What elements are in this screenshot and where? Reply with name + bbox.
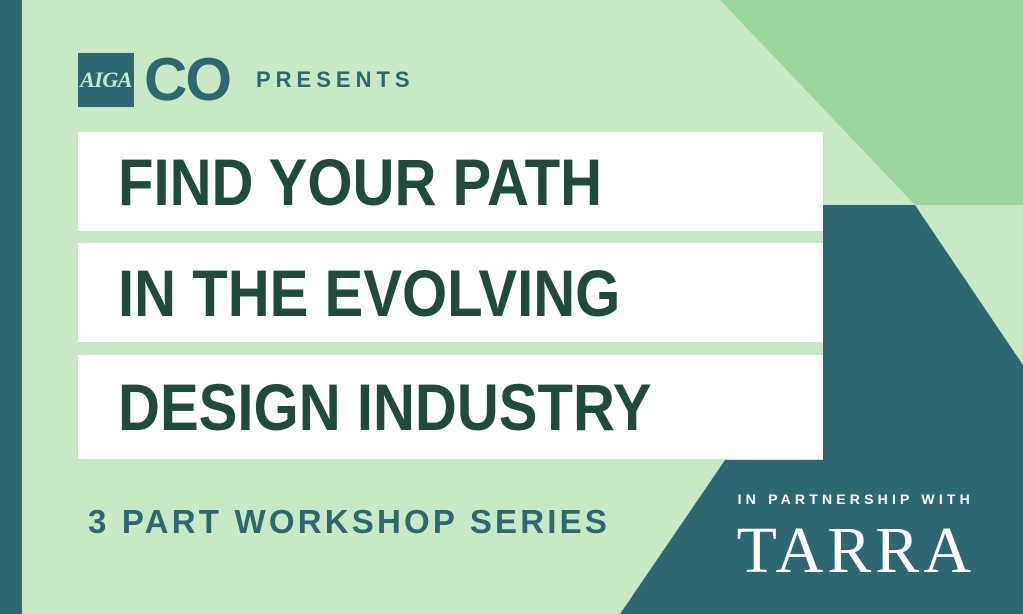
partnership-lockup: IN PARTNERSHIP WITH TARRA — [737, 492, 975, 584]
headline-band-1: FIND YOUR PATH — [78, 132, 823, 231]
promotional-poster: AIGA CO PRESENTS FIND YOUR PATH IN THE E… — [0, 0, 1023, 614]
partner-logo-text: TARRA — [737, 518, 975, 584]
aiga-logo-text: AIGA — [80, 69, 132, 91]
aiga-logo-mark: AIGA — [78, 53, 134, 107]
headline-line-2: IN THE EVOLVING — [118, 260, 620, 326]
headline-band-3: DESIGN INDUSTRY — [78, 355, 823, 459]
logo-lockup: AIGA CO PRESENTS — [78, 50, 415, 110]
left-accent-rail — [0, 0, 22, 614]
chapter-abbreviation: CO — [144, 50, 230, 110]
workshop-series-subtitle: 3 PART WORKSHOP SERIES — [88, 505, 610, 538]
presents-label: PRESENTS — [256, 69, 415, 91]
headline-line-3: DESIGN INDUSTRY — [118, 374, 652, 440]
headline-line-1: FIND YOUR PATH — [118, 149, 602, 215]
headline-band-2: IN THE EVOLVING — [78, 243, 823, 342]
partnership-kicker: IN PARTNERSHIP WITH — [737, 492, 975, 506]
